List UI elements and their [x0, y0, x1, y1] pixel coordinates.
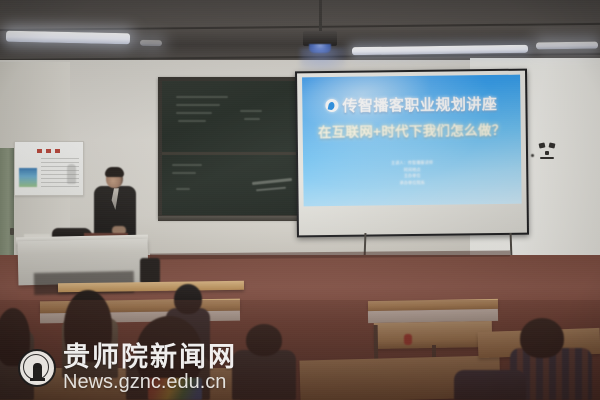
screen-surface: 传智播客职业规划讲座 在互联网+时代下我们怎么做？ 主讲人：传智播客讲师 时间地… [297, 71, 527, 236]
blackboard-divider [162, 152, 302, 155]
watermark-site-url: News.gznc.edu.cn [63, 372, 237, 392]
wall-outlet-fixture [538, 143, 558, 165]
door-knob [10, 228, 14, 235]
chalk-writing [176, 104, 220, 106]
slide-subtitle: 在互联网+时代下我们怎么做？ [303, 119, 521, 142]
fixture-slot [545, 151, 549, 155]
projector-beam [300, 48, 346, 70]
slide-title-row: 传智播客职业规划讲座 [302, 93, 520, 117]
wall-screw [531, 154, 534, 157]
fluorescent-tube-light [536, 42, 598, 50]
watermark-site-name: 贵师院新闻网 [63, 344, 237, 371]
poster-image [19, 168, 37, 187]
poster-heading [37, 149, 63, 153]
projector-mount-rod [319, 0, 322, 34]
chalk-writing [240, 110, 262, 112]
slide-bullet: 承办单位院系 [303, 178, 521, 187]
watermark-text: 贵师院新闻网 News.gznc.edu.cn [63, 344, 237, 392]
slide-bullet-list: 主讲人：传智播客讲师 时间地点 主办单位 承办单位院系 [303, 159, 521, 188]
chalk-writing [176, 188, 190, 190]
chalk-tray [158, 216, 308, 221]
slide-title: 传智播客职业规划讲座 [342, 93, 497, 116]
chalk-writing [178, 120, 206, 122]
fixture-slot [549, 142, 556, 148]
ceiling-seam [0, 23, 600, 31]
chalk-writing [244, 118, 260, 120]
seal-tower-glyph [33, 363, 42, 380]
chair [140, 258, 160, 284]
projection-screen: 传智播客职业规划讲座 在互联网+时代下我们怎么做？ 主讲人：传智播客讲师 时间地… [295, 69, 529, 238]
gznc-news-seal-icon [18, 349, 56, 387]
chalk-writing [176, 96, 228, 98]
watermark: 贵师院新闻网 News.gznc.edu.cn [18, 344, 237, 392]
photo-screenshot: 传智播客职业规划讲座 在互联网+时代下我们怎么做？ 主讲人：传智播客讲师 时间地… [0, 0, 600, 400]
fluorescent-tube-light [140, 40, 162, 46]
wall-poster [14, 141, 84, 196]
chalk-writing [176, 112, 212, 114]
chalk-writing [172, 164, 202, 166]
chuanzhi-boke-logo-icon [325, 99, 338, 112]
presenter-hair [105, 167, 124, 177]
fixture-slot [539, 142, 546, 148]
fixture-slot [540, 157, 554, 159]
projected-slide: 传智播客职业规划讲座 在互联网+时代下我们怎么做？ 主讲人：传智播客讲师 时间地… [302, 75, 522, 207]
chalk-writing [172, 172, 196, 174]
poster-figure [67, 164, 76, 184]
blackboard [162, 81, 302, 215]
